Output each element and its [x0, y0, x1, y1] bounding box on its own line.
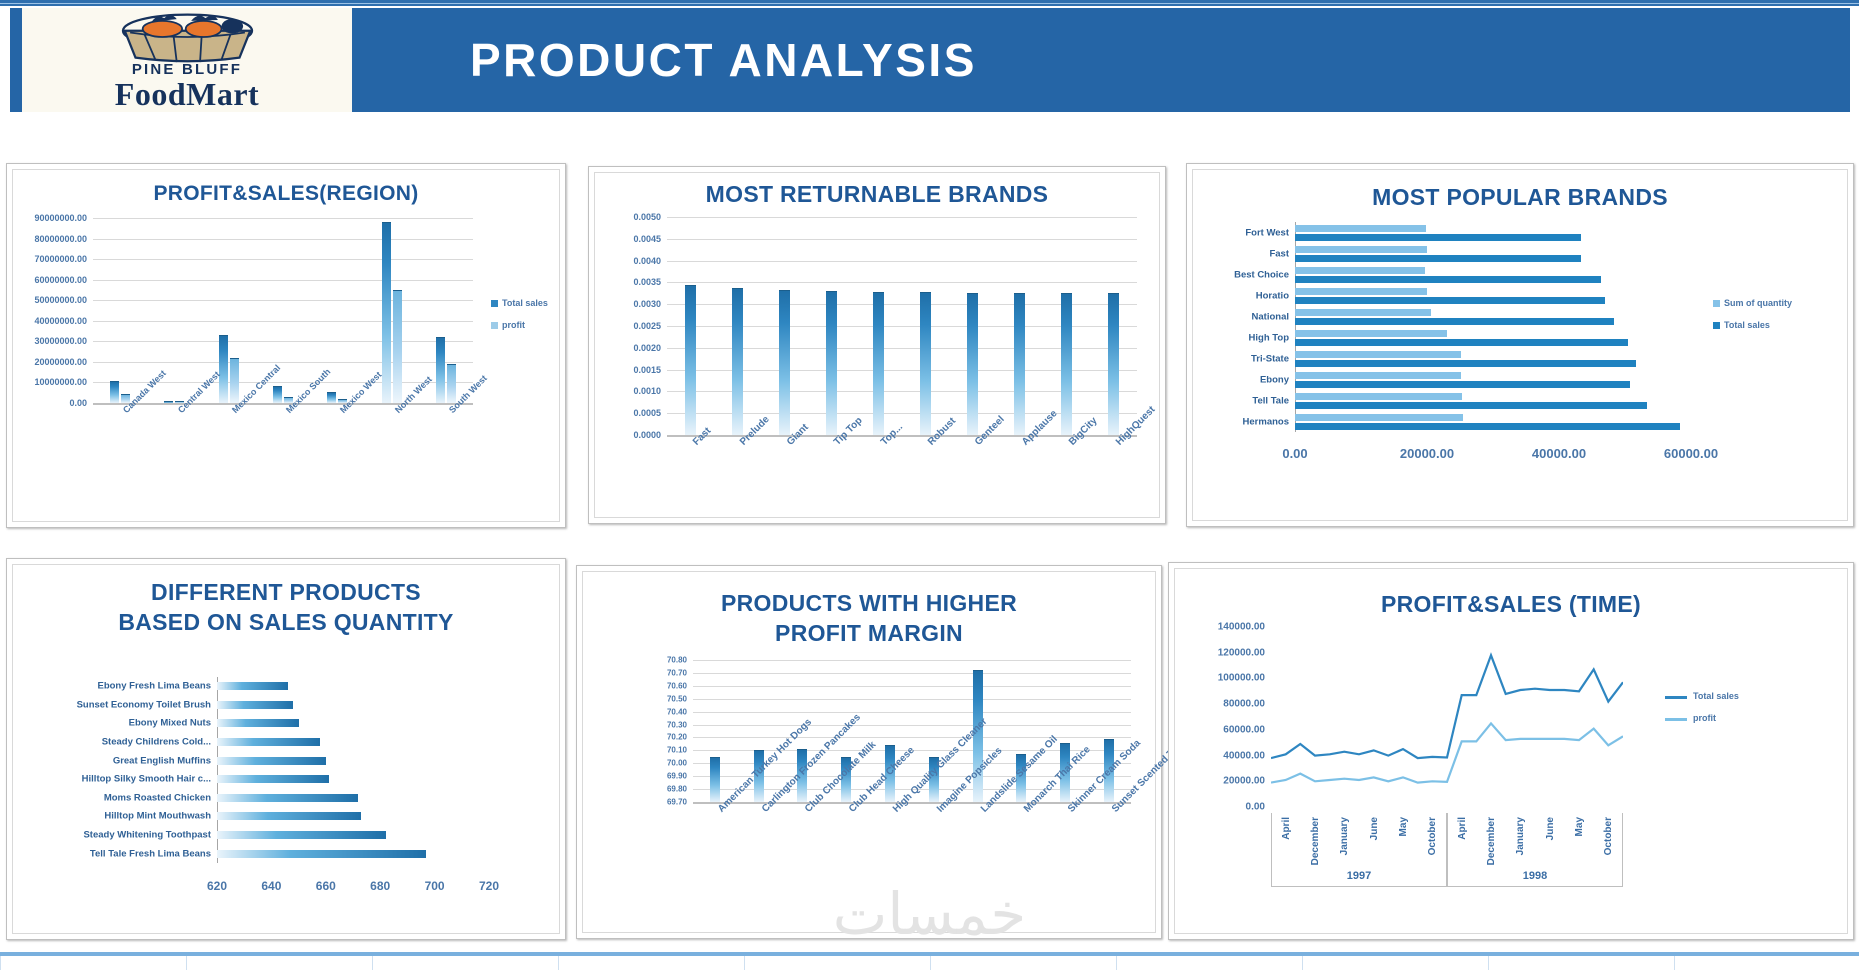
y-axis-label: 70.40: [667, 707, 687, 716]
bar: [1295, 381, 1630, 388]
row: Fast: [1295, 243, 1691, 264]
tick-mark: [0, 956, 1, 970]
legend-line-swatch: [1665, 696, 1687, 699]
brand-logo: PINE BLUFF FoodMart: [22, 8, 352, 112]
bar: [217, 719, 299, 727]
row-label: Hermanos: [1243, 416, 1289, 427]
row: Tell Tale Fresh Lima Beans: [217, 844, 489, 863]
bar: [710, 757, 720, 802]
bar: [1295, 339, 1628, 346]
month-label: June: [1545, 817, 1556, 840]
row: Steady Childrens Cold...: [217, 733, 489, 752]
y-axis-label: 0.0025: [633, 321, 661, 331]
row-label: Ebony: [1260, 374, 1289, 385]
month-label: January: [1339, 817, 1350, 855]
bar: [779, 290, 790, 435]
row: Horatio: [1295, 285, 1691, 306]
header-left-accent: [10, 8, 22, 112]
bar-group: [967, 293, 978, 435]
bar: [217, 850, 426, 858]
row-label: Tell Tale Fresh Lima Beans: [90, 848, 211, 859]
plot-area: [667, 217, 1137, 435]
bar: [217, 831, 386, 839]
chart-panel-most-returnable-brands: MOST RETURNABLE BRANDS 0.00500.00450.004…: [588, 166, 1166, 524]
bar: [967, 293, 978, 435]
row: Ebony Fresh Lima Beans: [217, 677, 489, 696]
gridline: [667, 435, 1137, 437]
bar: [217, 757, 326, 765]
year-label: 1997: [1272, 870, 1446, 882]
month-label: October: [1427, 817, 1438, 855]
gridline: [693, 802, 1131, 804]
legend-label: Total sales: [1693, 691, 1739, 701]
chart-frame: PROFIT&SALES(REGION) 90000000.0080000000…: [12, 169, 560, 522]
legend-label: profit: [502, 320, 525, 330]
bar-group: [1061, 293, 1072, 435]
bar: [732, 288, 743, 435]
bar: [1108, 293, 1119, 435]
y-axis-label: 120000.00: [1218, 647, 1265, 658]
bar: [447, 364, 456, 403]
plot-area: Fort WestFastBest ChoiceHoratioNationalH…: [1295, 222, 1691, 432]
x-axis-tick: 20000.00: [1400, 446, 1454, 461]
bar: [826, 291, 837, 435]
x-axis-tick: 40000.00: [1532, 446, 1586, 461]
month-label: May: [1574, 817, 1585, 836]
row-label: Tri-State: [1251, 353, 1289, 364]
row-label: Sunset Economy Toilet Brush: [77, 699, 211, 710]
gridline: [93, 403, 473, 405]
row-label: Horatio: [1256, 290, 1289, 301]
x-axis-tick: 660: [316, 879, 336, 893]
row-label: National: [1252, 311, 1289, 322]
bar: [273, 386, 282, 403]
chart-frame: PRODUCTS WITH HIGHER PROFIT MARGIN 70.80…: [582, 571, 1156, 933]
legend-item: Sum of quantity: [1713, 298, 1792, 308]
row: Hilltop Silky Smooth Hair c...: [217, 770, 489, 789]
bar: [920, 292, 931, 435]
bar: [393, 290, 402, 403]
line-total-sales: [1271, 655, 1623, 758]
legend-swatch: [491, 300, 498, 307]
x-axis-tick: 680: [370, 879, 390, 893]
x-axis-tick: 620: [207, 879, 227, 893]
y-axis-label: 50000000.00: [34, 295, 87, 305]
plot-area: [693, 660, 1131, 802]
row-label: Great English Muffins: [113, 755, 211, 766]
bar: [1295, 288, 1427, 295]
bar: [1295, 414, 1463, 421]
y-axis-label: 0.0020: [633, 343, 661, 353]
row-label: High Top: [1249, 332, 1289, 343]
y-axis-label: 70.00: [667, 759, 687, 768]
bar: [217, 794, 358, 802]
bar-group: [873, 292, 884, 435]
y-axis-label: 70.30: [667, 720, 687, 729]
row-label: Ebony Fresh Lima Beans: [97, 681, 211, 692]
bar-group: [1014, 293, 1025, 435]
bar: [1295, 255, 1581, 262]
x-axis-tick: 60000.00: [1664, 446, 1718, 461]
page-title: PRODUCT ANALYSIS: [470, 33, 977, 87]
row: Fort West: [1295, 222, 1691, 243]
row-label: Tell Tale: [1252, 395, 1289, 406]
bar: [1295, 234, 1581, 241]
bar: [110, 381, 119, 403]
bar: [1295, 309, 1431, 316]
top-rule: [0, 0, 1859, 6]
y-axis-label: 60000000.00: [34, 275, 87, 285]
bar: [217, 701, 293, 709]
row: Tell Tale: [1295, 390, 1691, 411]
y-axis-label: 10000000.00: [34, 377, 87, 387]
dashboard-header: PINE BLUFF FoodMart PRODUCT ANALYSIS: [10, 8, 1850, 112]
row: Hilltop Mint Mouthwash: [217, 807, 489, 826]
row-label: Moms Roasted Chicken: [104, 792, 211, 803]
header-title-bar: PRODUCT ANALYSIS: [352, 8, 1850, 112]
legend-item: Total sales: [1713, 320, 1792, 330]
y-axis-label: 40000000.00: [34, 316, 87, 326]
y-axis-label: 70000000.00: [34, 254, 87, 264]
x-axis-tick: 640: [261, 879, 281, 893]
y-axis-label: 90000000.00: [34, 213, 87, 223]
y-axis-label: 0.0015: [633, 365, 661, 375]
row: National: [1295, 306, 1691, 327]
bars-group: [667, 217, 1137, 435]
y-axis-label: 69.90: [667, 772, 687, 781]
produce-basket-icon: [95, 11, 280, 63]
watermark: خمسات: [833, 880, 1026, 948]
chart-panel-profit-sales-time: PROFIT&SALES (TIME) 140000.00120000.0010…: [1168, 562, 1854, 940]
year-group: AprilDecemberJanuaryJuneMayOctober1997: [1271, 813, 1447, 887]
tick-mark: [558, 956, 559, 970]
row: Ebony: [1295, 369, 1691, 390]
bars-group: [693, 660, 1131, 802]
y-axis-label: 0.00: [69, 398, 87, 408]
legend-line-swatch: [1665, 718, 1687, 721]
y-axis-label: 60000.00: [1223, 724, 1265, 735]
bar: [219, 335, 228, 403]
y-axis-label: 0.00: [1246, 802, 1265, 813]
x-axis-tick: 700: [425, 879, 445, 893]
tick-mark: [1488, 956, 1489, 970]
chart-legend: Sum of quantityTotal sales: [1713, 298, 1792, 342]
bar: [1295, 225, 1426, 232]
legend-label: Total sales: [1724, 320, 1770, 330]
chart-title-line2: PROFIT MARGIN: [583, 620, 1155, 647]
y-axis-label: 70.80: [667, 656, 687, 665]
bar-group: [382, 222, 402, 403]
logo-wordmark: FoodMart: [115, 78, 259, 110]
plot-area: Ebony Fresh Lima BeansSunset Economy Toi…: [217, 677, 489, 863]
y-axis-label: 80000.00: [1223, 699, 1265, 710]
chart-title: PROFIT&SALES (TIME): [1175, 591, 1847, 618]
bar: [1295, 318, 1614, 325]
bar-group: [779, 290, 790, 435]
month-label: April: [1457, 817, 1468, 840]
bar-group: [436, 337, 456, 403]
row: Sunset Economy Toilet Brush: [217, 696, 489, 715]
chart-frame: PROFIT&SALES (TIME) 140000.00120000.0010…: [1174, 568, 1848, 934]
y-axis-label: 20000000.00: [34, 357, 87, 367]
bar: [217, 738, 320, 746]
y-axis-label: 0.0050: [633, 212, 661, 222]
row-label: Hilltop Mint Mouthwash: [104, 811, 211, 822]
chart-frame: DIFFERENT PRODUCTS BASED ON SALES QUANTI…: [12, 564, 560, 934]
legend-label: Sum of quantity: [1724, 298, 1792, 308]
dashboard-page: PINE BLUFF FoodMart PRODUCT ANALYSIS PRO…: [0, 0, 1859, 970]
bar: [1061, 293, 1072, 435]
y-axis-label: 30000000.00: [34, 336, 87, 346]
y-axis-label: 0.0030: [633, 299, 661, 309]
month-label: April: [1281, 817, 1292, 840]
plot-area: [1271, 627, 1623, 807]
bottom-tick-marks: [0, 956, 1859, 970]
y-axis-label: 0.0010: [633, 386, 661, 396]
chart-panel-profit-sales-region: PROFIT&SALES(REGION) 90000000.0080000000…: [6, 163, 566, 528]
y-axis-label: 0.0045: [633, 234, 661, 244]
row-label: Hilltop Silky Smooth Hair c...: [82, 774, 211, 785]
legend-item: profit: [1665, 713, 1739, 723]
legend-swatch: [1713, 300, 1720, 307]
y-axis-label: 70.50: [667, 694, 687, 703]
y-axis-label: 40000.00: [1223, 750, 1265, 761]
bar: [217, 812, 361, 820]
legend-item: profit: [491, 320, 548, 330]
year-group: AprilDecemberJanuaryJuneMayOctober1998: [1447, 813, 1623, 887]
year-label: 1998: [1448, 870, 1622, 882]
tick-mark: [1302, 956, 1303, 970]
bar: [1295, 393, 1462, 400]
bar: [685, 285, 696, 435]
bar: [164, 401, 173, 403]
month-label: January: [1515, 817, 1526, 855]
bar-group: [826, 291, 837, 435]
y-axis-label: 69.70: [667, 798, 687, 807]
bar: [1295, 276, 1601, 283]
y-axis-label: 0.0040: [633, 256, 661, 266]
bar: [1014, 293, 1025, 435]
row-label: Steady Whitening Toothpast: [83, 830, 211, 841]
plot-area: [93, 218, 473, 403]
row: Steady Whitening Toothpast: [217, 826, 489, 845]
chart-title: PROFIT&SALES(REGION): [13, 182, 559, 206]
y-axis-label: 70.20: [667, 733, 687, 742]
row-label: Ebony Mixed Nuts: [129, 718, 211, 729]
x-axis-tick: 720: [479, 879, 499, 893]
y-axis-label: 20000.00: [1223, 776, 1265, 787]
row: Best Choice: [1295, 264, 1691, 285]
y-axis-label: 70.10: [667, 746, 687, 755]
bar: [217, 775, 329, 783]
bar: [1295, 297, 1605, 304]
bar-group: [710, 757, 720, 802]
y-axis-label: 0.0000: [633, 430, 661, 440]
chart-title: MOST POPULAR BRANDS: [1193, 184, 1847, 211]
bar: [1295, 351, 1461, 358]
bar: [436, 337, 445, 403]
bar: [230, 358, 239, 403]
bar: [1295, 246, 1427, 253]
month-label: May: [1398, 817, 1409, 836]
row: Great English Muffins: [217, 751, 489, 770]
legend-label: profit: [1693, 713, 1716, 723]
row: Ebony Mixed Nuts: [217, 714, 489, 733]
month-label: October: [1603, 817, 1614, 855]
legend-label: Total sales: [502, 298, 548, 308]
y-axis-label: 0.0035: [633, 277, 661, 287]
x-axis-tick: 0.00: [1282, 446, 1307, 461]
row: High Top: [1295, 327, 1691, 348]
chart-title-line1: PRODUCTS WITH HIGHER: [583, 590, 1155, 617]
y-axis-label: 0.0005: [633, 408, 661, 418]
logo-tagline: PINE BLUFF: [132, 61, 242, 78]
line-series-group: [1271, 627, 1623, 807]
bar-group: [732, 288, 743, 435]
tick-mark: [930, 956, 931, 970]
chart-legend: Total salesprofit: [1665, 691, 1739, 735]
bar: [1295, 372, 1461, 379]
chart-panel-most-popular-brands: MOST POPULAR BRANDS Fort WestFastBest Ch…: [1186, 163, 1854, 527]
tick-mark: [186, 956, 187, 970]
chart-frame: MOST RETURNABLE BRANDS 0.00500.00450.004…: [594, 172, 1160, 518]
tick-mark: [1116, 956, 1117, 970]
tick-mark: [1674, 956, 1675, 970]
tick-mark: [372, 956, 373, 970]
row: Hermanos: [1295, 411, 1691, 432]
legend-item: Total sales: [491, 298, 548, 308]
bar: [1295, 402, 1647, 409]
chart-title-line1: DIFFERENT PRODUCTS: [13, 579, 559, 605]
bar-group: [219, 335, 239, 403]
month-label: June: [1369, 817, 1380, 840]
chart-title: MOST RETURNABLE BRANDS: [595, 181, 1159, 208]
bar: [217, 682, 288, 690]
legend-swatch: [491, 322, 498, 329]
bar-group: [110, 381, 130, 403]
bar: [1295, 330, 1447, 337]
row: Tri-State: [1295, 348, 1691, 369]
bar: [1295, 423, 1680, 430]
y-axis-label: 100000.00: [1218, 673, 1265, 684]
bar: [1295, 267, 1425, 274]
chart-legend: Total salesprofit: [491, 298, 548, 342]
row-label: Fort West: [1245, 227, 1289, 238]
bar-group: [685, 285, 696, 435]
month-label: December: [1486, 817, 1497, 865]
chart-panel-different-products: DIFFERENT PRODUCTS BASED ON SALES QUANTI…: [6, 558, 566, 940]
y-axis-label: 70.70: [667, 668, 687, 677]
row: Moms Roasted Chicken: [217, 789, 489, 808]
tick-mark: [744, 956, 745, 970]
y-axis-label: 140000.00: [1218, 622, 1265, 633]
bar-group: [1108, 293, 1119, 435]
bar: [327, 392, 336, 403]
month-label: December: [1310, 817, 1321, 865]
chart-frame: MOST POPULAR BRANDS Fort WestFastBest Ch…: [1192, 169, 1848, 521]
bars-group: [93, 218, 473, 403]
bar-group: [920, 292, 931, 435]
bar: [873, 292, 884, 435]
legend-swatch: [1713, 322, 1720, 329]
row-label: Fast: [1269, 248, 1289, 259]
y-axis-label: 69.80: [667, 785, 687, 794]
y-axis-label: 70.60: [667, 681, 687, 690]
chart-title-line2: BASED ON SALES QUANTITY: [13, 609, 559, 635]
legend-item: Total sales: [1665, 691, 1739, 701]
row-label: Best Choice: [1234, 269, 1289, 280]
row-label: Steady Childrens Cold...: [102, 737, 211, 748]
bar: [1295, 360, 1636, 367]
y-axis-label: 80000000.00: [34, 234, 87, 244]
